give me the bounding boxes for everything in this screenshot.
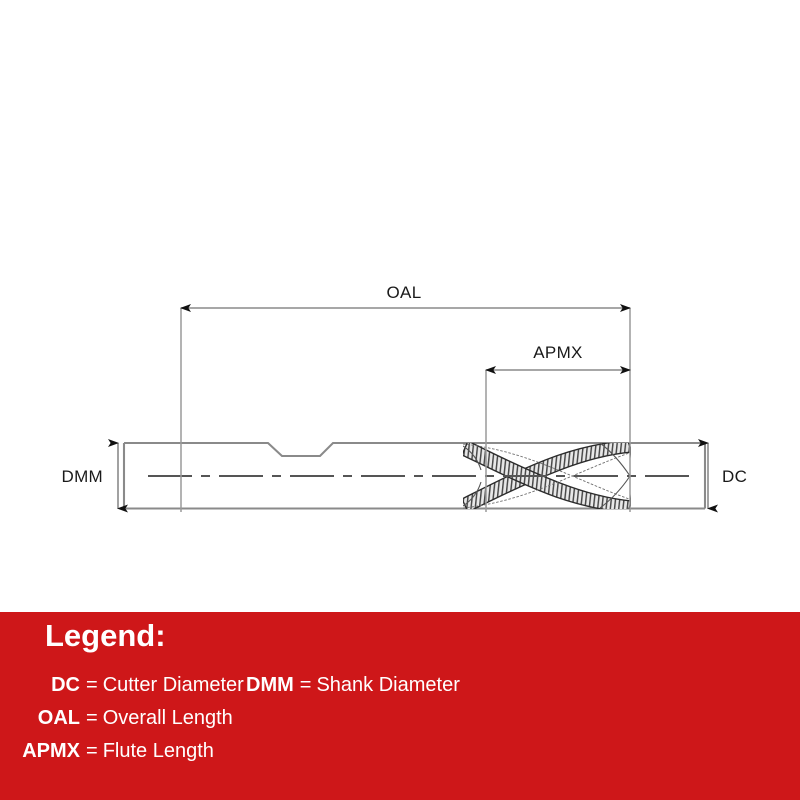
- shank-top-edge: [124, 443, 463, 456]
- apmx-label: APMX: [533, 343, 582, 362]
- legend-desc-dmm: Shank Diameter: [316, 674, 459, 697]
- legend-entry-dc: DC = Cutter Diameter: [0, 674, 246, 697]
- dc-label: DC: [722, 467, 747, 486]
- legend-abbr-dc: DC: [0, 674, 80, 697]
- legend-desc-oal: Overall Length: [103, 707, 233, 730]
- legend-panel: Legend: DC = Cutter Diameter DMM = Shank…: [0, 612, 800, 800]
- legend-title: Legend:: [45, 620, 166, 651]
- technical-drawing-area: OAL APMX DMM DC: [0, 0, 800, 612]
- dmm-label: DMM: [62, 467, 104, 486]
- legend-equals: =: [80, 740, 103, 763]
- end-mill-drawing-svg: OAL APMX DMM DC: [0, 0, 800, 612]
- dimension-dc: DC: [708, 443, 747, 509]
- legend-abbr-oal: OAL: [0, 707, 80, 730]
- legend-equals: =: [80, 674, 103, 697]
- legend-row: DC = Cutter Diameter DMM = Shank Diamete…: [0, 674, 800, 707]
- legend-entry-apmx: APMX = Flute Length: [0, 740, 246, 763]
- oal-label: OAL: [387, 283, 422, 302]
- legend-entry-oal: OAL = Overall Length: [0, 707, 246, 730]
- legend-equals: =: [80, 707, 103, 730]
- legend-row: OAL = Overall Length: [0, 707, 800, 740]
- legend-rows: DC = Cutter Diameter DMM = Shank Diamete…: [0, 674, 800, 773]
- dimension-dmm: DMM: [62, 443, 119, 509]
- dimension-oal: OAL: [181, 283, 630, 512]
- legend-entry-dmm: DMM = Shank Diameter: [246, 674, 460, 697]
- legend-desc-apmx: Flute Length: [103, 740, 214, 763]
- legend-row: APMX = Flute Length: [0, 740, 800, 773]
- legend-abbr-apmx: APMX: [0, 740, 80, 763]
- legend-equals: =: [294, 674, 317, 697]
- legend-abbr-dmm: DMM: [246, 674, 294, 697]
- legend-desc-dc: Cutter Diameter: [103, 674, 244, 697]
